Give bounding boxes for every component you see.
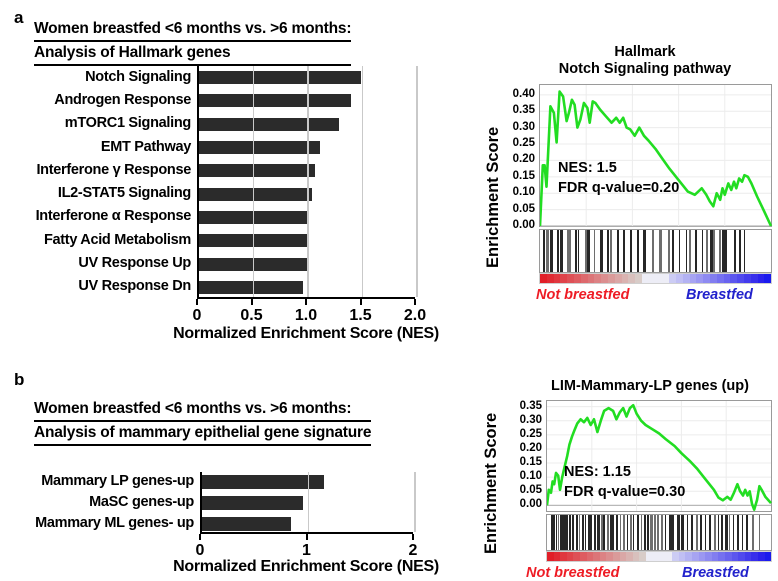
gene-hit-tick: [713, 230, 715, 272]
gene-hit-tick: [616, 515, 618, 550]
gene-hit-tick: [594, 515, 596, 550]
gene-hit-tick: [546, 230, 548, 272]
gene-hit-tick: [613, 515, 614, 550]
colorbar-segment: [601, 274, 608, 283]
gene-hit-tick: [591, 515, 592, 550]
gene-hit-tick: [557, 230, 559, 272]
colorbar-segment: [718, 552, 725, 561]
gsea-y-tick-label: 0.35: [499, 104, 535, 116]
gsea-y-tick-label: 0.05: [506, 484, 542, 496]
colorbar-segment: [554, 552, 561, 561]
gene-hit-tick: [718, 515, 720, 550]
panel-a-ranking-colorbar: [539, 273, 772, 284]
gene-hit-tick: [746, 515, 748, 550]
gene-hit-tick: [686, 230, 688, 272]
colorbar-segment: [547, 552, 554, 561]
gene-hit-tick: [600, 230, 603, 272]
gene-hit-tick: [610, 230, 612, 272]
gene-hit-tick: [744, 230, 746, 272]
colorbar-segment: [669, 274, 676, 283]
colorbar-segment: [751, 552, 758, 561]
panel-a-gsea-plot: Hallmark Notch Signaling pathway Enrichm…: [470, 40, 778, 300]
gene-hit-tick: [665, 515, 667, 550]
gene-hit-tick: [575, 230, 577, 272]
bar-category-label: Mammary LP genes-up: [0, 473, 194, 489]
colorbar-segment: [692, 552, 699, 561]
colorbar-segment: [574, 274, 581, 283]
colorbar-segment: [567, 552, 574, 561]
gene-hit-tick: [560, 230, 563, 272]
colorbar-segment: [690, 274, 697, 283]
bar: [202, 517, 291, 531]
gene-hit-tick: [643, 230, 645, 272]
panel-b-bar-chart: Mammary LP genes-upMaSC genes-upMammary …: [0, 0, 470, 580]
gene-hit-tick: [759, 515, 760, 550]
colorbar-segment: [608, 274, 615, 283]
gridline: [414, 472, 415, 532]
colorbar-segment: [758, 552, 765, 561]
gene-hit-tick: [582, 515, 584, 550]
panel-b-x-axis-title: Normalized Enrichment Score (NES): [150, 558, 462, 576]
colorbar-segment: [626, 552, 633, 561]
gene-hit-tick: [637, 515, 639, 550]
panel-a-gsea-curve-area: [539, 84, 772, 227]
gene-hit-tick: [569, 515, 571, 550]
panel-a-legend-not-breastfed: Not breastfed: [536, 287, 629, 303]
colorbar-segment: [622, 274, 629, 283]
colorbar-segment: [547, 274, 554, 283]
colorbar-segment: [725, 552, 732, 561]
panel-b-nes-annotation: NES: 1.15: [564, 464, 631, 480]
colorbar-segment: [633, 552, 640, 561]
enrichment-score-line: [540, 92, 771, 226]
colorbar-segment: [662, 274, 669, 283]
gene-hit-tick: [705, 515, 706, 550]
gene-hit-tick: [714, 515, 716, 550]
panel-b-gsea-title: LIM-Mammary-LP genes (up): [522, 378, 778, 395]
gene-hit-tick: [623, 515, 625, 550]
bar: [202, 475, 324, 489]
colorbar-segment: [646, 552, 653, 561]
panel-a-nes-annotation: NES: 1.5: [558, 160, 617, 176]
colorbar-segment: [679, 552, 686, 561]
panel-b-fdr-annotation: FDR q-value=0.30: [564, 484, 685, 500]
colorbar-segment: [573, 552, 580, 561]
colorbar-segment: [600, 552, 607, 561]
gene-hit-tick: [668, 230, 670, 272]
colorbar-segment: [593, 552, 600, 561]
colorbar-segment: [613, 552, 620, 561]
gene-hit-tick: [607, 230, 610, 272]
gene-hit-tick: [627, 515, 629, 550]
panel-b-legend-breastfed: Breastfed: [682, 565, 749, 581]
colorbar-segment: [628, 274, 635, 283]
gene-hit-tick: [657, 515, 659, 550]
gene-hit-tick: [689, 230, 691, 272]
colorbar-segment: [666, 552, 673, 561]
gene-hit-tick: [620, 515, 621, 550]
panel-a-gene-hit-ticks: [539, 229, 772, 273]
gene-hit-tick: [702, 230, 703, 272]
gene-hit-tick: [733, 515, 735, 550]
bar: [202, 496, 303, 510]
gene-hit-tick: [695, 230, 696, 272]
gene-hit-tick: [661, 515, 663, 550]
gsea-y-tick-label: 0.25: [506, 428, 542, 440]
gsea-y-tick-label: 0.30: [506, 414, 542, 426]
gene-hit-tick: [706, 230, 707, 272]
gene-hit-tick: [752, 515, 754, 550]
gene-hit-tick: [578, 230, 579, 272]
colorbar-segment: [745, 552, 752, 561]
gene-hit-tick: [679, 230, 681, 272]
gene-hit-tick: [734, 230, 736, 272]
gene-hit-tick: [687, 515, 688, 550]
colorbar-segment: [635, 274, 642, 283]
gene-hit-tick: [650, 515, 652, 550]
gene-hit-tick: [669, 515, 672, 550]
gene-hit-tick: [576, 515, 578, 550]
colorbar-segment: [765, 552, 772, 561]
colorbar-segment: [724, 274, 731, 283]
gsea-y-tick-label: 0.00: [506, 498, 542, 510]
colorbar-segment: [554, 274, 561, 283]
gsea-y-tick-label: 0.25: [499, 137, 535, 149]
colorbar-segment: [685, 552, 692, 561]
bar-category-label: Mammary ML genes- up: [0, 515, 194, 531]
gene-hit-tick: [630, 515, 632, 550]
figure-root: a Women breastfed <6 months vs. >6 month…: [0, 0, 778, 580]
gene-hit-tick: [672, 515, 674, 550]
panel-a-gsea-title-line1: Hallmark: [614, 44, 675, 60]
gsea-y-tick-label: 0.10: [506, 470, 542, 482]
colorbar-segment: [639, 552, 646, 561]
colorbar-segment: [712, 552, 719, 561]
colorbar-segment: [649, 274, 656, 283]
colorbar-segment: [676, 274, 683, 283]
colorbar-segment: [642, 274, 649, 283]
colorbar-segment: [696, 274, 703, 283]
colorbar-segment: [732, 552, 739, 561]
panel-b-ranking-colorbar: [546, 551, 772, 562]
gsea-y-tick-label: 0.05: [499, 203, 535, 215]
gsea-y-tick-label: 0.35: [506, 400, 542, 412]
gridline: [308, 472, 309, 532]
gsea-y-tick-label: 0.15: [506, 456, 542, 468]
colorbar-segment: [699, 552, 706, 561]
colorbar-segment: [672, 552, 679, 561]
gene-hit-tick: [641, 515, 642, 550]
panel-a-gsea-title: Hallmark Notch Signaling pathway: [512, 44, 778, 78]
gene-hit-tick: [681, 515, 683, 550]
colorbar-segment: [717, 274, 724, 283]
panel-a-legend-breastfed: Breastfed: [686, 287, 753, 303]
gsea-y-tick-label: 0.15: [499, 170, 535, 182]
gsea-y-tick-label: 0.20: [506, 442, 542, 454]
colorbar-segment: [653, 552, 660, 561]
gene-hit-tick: [594, 230, 596, 272]
gene-hit-tick: [633, 515, 634, 550]
gene-hit-tick: [607, 515, 609, 550]
gene-hit-tick: [725, 230, 727, 272]
colorbar-segment: [620, 552, 627, 561]
panel-b-gsea-plot: LIM-Mammary-LP genes (up) Enrichment Sco…: [470, 378, 778, 580]
colorbar-segment: [587, 552, 594, 561]
gene-hit-tick: [691, 515, 692, 550]
gene-hit-tick: [721, 515, 722, 550]
colorbar-segment: [560, 274, 567, 283]
gene-hit-tick: [637, 230, 640, 272]
gene-hit-tick: [644, 515, 646, 550]
gene-hit-tick: [623, 230, 625, 272]
colorbar-segment: [737, 274, 744, 283]
colorbar-segment: [738, 552, 745, 561]
gene-hit-tick: [617, 230, 619, 272]
colorbar-segment: [588, 274, 595, 283]
gene-hit-tick: [652, 230, 653, 272]
gene-hit-tick: [603, 515, 604, 550]
colorbar-segment: [581, 274, 588, 283]
colorbar-segment: [705, 552, 712, 561]
gene-hit-tick: [569, 230, 571, 272]
gsea-y-tick-label: 0.00: [499, 219, 535, 231]
x-tick-mark: [199, 534, 201, 540]
colorbar-segment: [656, 274, 663, 283]
gene-hit-tick: [566, 515, 568, 550]
gene-hit-tick: [700, 515, 701, 550]
gene-hit-tick: [672, 230, 674, 272]
gene-hit-tick: [553, 515, 554, 550]
panel-a-fdr-annotation: FDR q-value=0.20: [558, 180, 679, 196]
colorbar-segment: [764, 274, 771, 283]
gene-hit-tick: [739, 230, 741, 272]
panel-b-gsea-y-axis-label: Enrichment Score: [482, 413, 501, 554]
colorbar-segment: [730, 274, 737, 283]
colorbar-segment: [703, 274, 710, 283]
gene-hit-tick: [719, 230, 721, 272]
gene-hit-tick: [659, 230, 662, 272]
gene-hit-tick: [572, 515, 574, 550]
gene-hit-tick: [709, 515, 711, 550]
colorbar-segment: [751, 274, 758, 283]
gene-hit-tick: [654, 515, 656, 550]
gene-hit-tick: [543, 230, 545, 272]
gene-hit-tick: [551, 230, 553, 272]
colorbar-segment: [744, 274, 751, 283]
gene-hit-tick: [696, 515, 698, 550]
gsea-y-tick-label: 0.10: [499, 186, 535, 198]
colorbar-segment: [758, 274, 765, 283]
gene-hit-tick: [585, 515, 586, 550]
colorbar-segment: [567, 274, 574, 283]
bar-category-label: MaSC genes-up: [0, 494, 194, 510]
gene-hit-tick: [737, 515, 738, 550]
gene-hit-tick: [579, 515, 580, 550]
panel-b-gene-hit-ticks: [546, 514, 772, 551]
gene-hit-tick: [729, 515, 730, 550]
gene-hit-tick: [725, 515, 728, 550]
gene-hit-tick: [677, 515, 680, 550]
panel-a-enrichment-curve: [540, 85, 773, 228]
panel-a-gsea-title-line2: Notch Signaling pathway: [559, 61, 731, 77]
gene-hit-tick: [647, 515, 648, 550]
colorbar-segment: [683, 274, 690, 283]
gsea-y-tick-label: 0.30: [499, 121, 535, 133]
panel-b-plot-area: [200, 472, 413, 534]
colorbar-segment: [615, 274, 622, 283]
x-tick-mark: [412, 534, 414, 540]
gene-hit-tick: [742, 515, 744, 550]
gene-hit-tick: [587, 230, 590, 272]
gene-hit-tick: [630, 230, 632, 272]
panel-b-legend-not-breastfed: Not breastfed: [526, 565, 619, 581]
colorbar-segment: [659, 552, 666, 561]
gsea-y-tick-label: 0.40: [499, 88, 535, 100]
colorbar-segment: [594, 274, 601, 283]
colorbar-segment: [606, 552, 613, 561]
gsea-y-tick-label: 0.20: [499, 153, 535, 165]
colorbar-segment: [540, 274, 547, 283]
colorbar-segment: [710, 274, 717, 283]
colorbar-segment: [580, 552, 587, 561]
colorbar-segment: [560, 552, 567, 561]
panel-b-gsea-title-line1: LIM-Mammary-LP genes (up): [551, 378, 749, 394]
x-tick-mark: [306, 534, 308, 540]
